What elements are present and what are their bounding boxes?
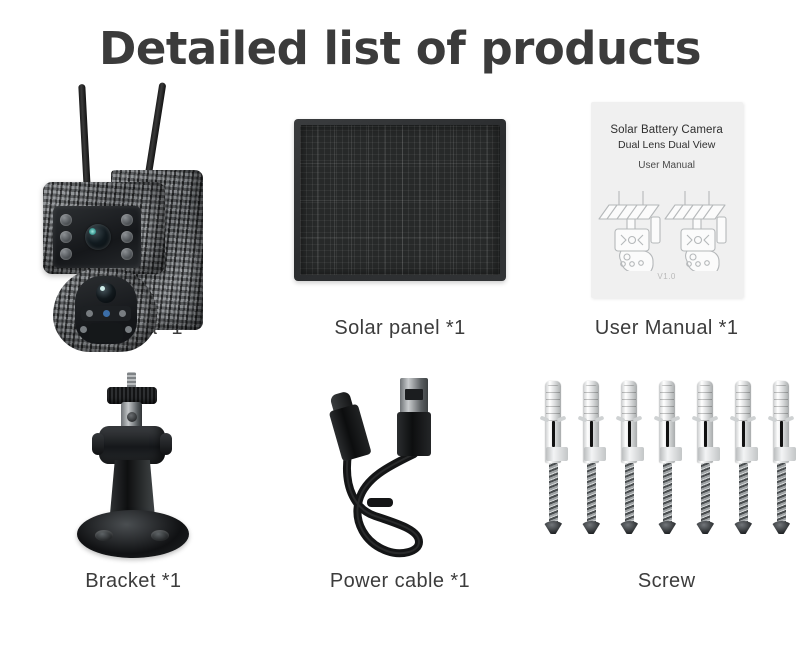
screw-head-icon (581, 521, 602, 534)
anchor-slot (666, 421, 669, 447)
anchor-fins (584, 385, 598, 421)
dome-led-icon (125, 326, 132, 333)
screw-set (617, 381, 641, 541)
wall-anchor-icon (659, 381, 675, 463)
screw-shaft-icon (777, 463, 786, 525)
solar-panel-cells (300, 125, 500, 275)
solar-panel-illustration (267, 82, 534, 317)
dome-led-strip (81, 306, 131, 321)
screw-shaft-icon (701, 463, 710, 525)
bracket-label: Bracket *1 (85, 570, 181, 593)
anchor-collar (622, 447, 644, 461)
screw-shaft-icon (587, 463, 596, 525)
product-list-page: Detailed list of products (0, 0, 800, 667)
screw-head-icon (771, 521, 792, 534)
bracket-adjust-knob (99, 426, 165, 464)
power-cable-icon (315, 370, 485, 560)
anchor-fins (546, 385, 560, 421)
anchor-slot (742, 421, 745, 447)
anchor-collar (546, 447, 568, 461)
product-cell-solar-panel[interactable]: Solar panel *1 (267, 82, 534, 360)
dome-status-led-icon (103, 310, 110, 317)
camera-icon (33, 82, 233, 317)
product-cell-camera[interactable]: Camera *1 (0, 82, 267, 360)
wall-anchor-icon (583, 381, 599, 463)
ir-led-icon (60, 231, 72, 243)
anchor-collar (660, 447, 682, 461)
usb-a-housing (397, 412, 431, 456)
dome-led-icon (119, 310, 126, 317)
screw-illustration (533, 360, 800, 570)
power-cable-label: Power cable *1 (330, 570, 470, 593)
screw-set (769, 381, 793, 541)
bracket-icon (63, 368, 203, 563)
screw-shaft-icon (625, 463, 634, 525)
wall-anchor-icon (735, 381, 751, 463)
bracket-illustration (0, 360, 267, 570)
wall-anchor-icon (773, 381, 789, 463)
anchor-fins (774, 385, 788, 421)
anchor-slot (704, 421, 707, 447)
anchor-slot (552, 421, 555, 447)
anchor-collar (736, 447, 758, 461)
screw-set-row (541, 381, 793, 549)
bracket-pivot-hole (127, 412, 137, 422)
screw-shaft-icon (739, 463, 748, 525)
product-cell-user-manual[interactable]: Solar Battery Camera Dual Lens Dual View… (533, 82, 800, 360)
wall-anchor-icon (545, 381, 561, 463)
user-manual-icon: Solar Battery Camera Dual Lens Dual View… (591, 102, 743, 298)
screw-head-icon (695, 521, 716, 534)
user-manual-label: User Manual *1 (595, 317, 738, 340)
wall-anchor-icon (621, 381, 637, 463)
ir-led-icon (121, 231, 133, 243)
usb-a-connector-icon (397, 378, 431, 454)
screw-set (655, 381, 679, 541)
manual-cover-camera-line-art-icon (597, 183, 737, 271)
product-cell-screw[interactable]: Screw (533, 360, 800, 630)
ir-led-icon (60, 214, 72, 226)
screw-head-icon (733, 521, 754, 534)
usb-a-metal-tip (400, 378, 428, 414)
camera-upper-body (43, 182, 165, 274)
camera-lens-module (53, 206, 141, 268)
anchor-fins (660, 385, 674, 421)
anchor-slot (780, 421, 783, 447)
anchor-collar (584, 447, 606, 461)
anchor-slot (590, 421, 593, 447)
power-cable-illustration (267, 360, 534, 570)
user-manual-illustration: Solar Battery Camera Dual Lens Dual View… (533, 82, 800, 317)
screw-shaft-icon (663, 463, 672, 525)
manual-cover-line3: User Manual (638, 160, 695, 171)
anchor-collar (698, 447, 720, 461)
screw-head-icon (619, 521, 640, 534)
bracket-knurled-nut (107, 387, 157, 404)
anchor-slot (628, 421, 631, 447)
dome-speaker-icon (89, 323, 123, 342)
bracket-screw-thread (127, 372, 136, 389)
screw-label: Screw (638, 570, 696, 593)
screw-set (541, 381, 565, 541)
dome-lens-icon (96, 283, 116, 303)
dome-led-icon (86, 310, 93, 317)
product-grid: Camera *1 Solar panel *1 Solar Battery C… (0, 82, 800, 652)
screw-head-icon (657, 521, 678, 534)
anchor-fins (622, 385, 636, 421)
screw-set (579, 381, 603, 541)
anchor-fins (736, 385, 750, 421)
camera-ptz-dome (53, 268, 157, 352)
ir-led-icon (60, 248, 72, 260)
antenna-left-icon (79, 84, 92, 190)
bracket-base-plate (77, 510, 189, 558)
screw-set (693, 381, 717, 541)
bracket-screw-hole (95, 530, 113, 541)
wall-anchor-icon (697, 381, 713, 463)
solar-panel-label: Solar panel *1 (334, 317, 465, 340)
ir-led-icon (121, 214, 133, 226)
manual-version-label: V1.0 (657, 272, 675, 281)
ir-led-icon (121, 248, 133, 260)
camera-illustration (0, 82, 267, 317)
screw-shaft-icon (549, 463, 558, 525)
screw-set (731, 381, 755, 541)
dome-faceplate (75, 276, 137, 344)
product-cell-bracket[interactable]: Bracket *1 (0, 360, 267, 630)
manual-cover-line1: Solar Battery Camera (610, 124, 723, 136)
bracket-screw-hole (151, 530, 169, 541)
manual-cover-line2: Dual Lens Dual View (618, 139, 715, 151)
dome-led-icon (80, 326, 87, 333)
page-title: Detailed list of products (0, 22, 800, 75)
anchor-fins (698, 385, 712, 421)
screw-head-icon (543, 521, 564, 534)
solar-panel-icon (294, 119, 506, 281)
anchor-collar (774, 447, 796, 461)
product-cell-power-cable[interactable]: Power cable *1 (267, 360, 534, 630)
camera-main-lens-icon (85, 224, 111, 250)
